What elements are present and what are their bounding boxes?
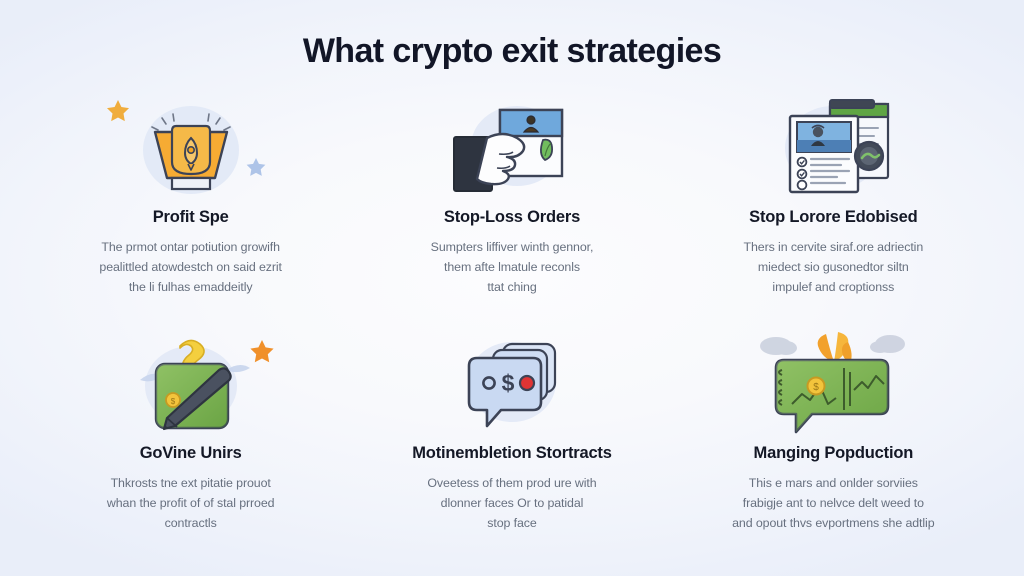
green-note-pen-icon: $ — [96, 328, 286, 436]
icon-stage: $ — [417, 328, 607, 436]
svg-text:$: $ — [814, 382, 820, 393]
card-title: Stop-Loss Orders — [444, 208, 580, 228]
cards-grid: Profit Spe The prmot ontar potiution gro… — [34, 92, 990, 562]
page-title: What crypto exit strategies — [0, 0, 1024, 70]
card-govine-unirs[interactable]: $ GoVine Unirs Thkrosts tne ext pitatie … — [34, 328, 347, 562]
hand-window-icon — [417, 92, 607, 200]
card-body-line: Thers in cervite siraf.ore adriectin — [744, 237, 924, 257]
star-orange-icon — [250, 340, 273, 362]
svg-text:$: $ — [502, 370, 515, 396]
icon-stage — [96, 92, 286, 200]
card-body: This e mars and onlder sorviies frabigje… — [732, 473, 934, 533]
card-body-line: Sumpters liffiver winth gennor, — [431, 237, 594, 257]
card-body-line: Oveetess of them prod ure with — [427, 473, 596, 493]
card-body-line: ttat ching — [431, 277, 594, 297]
card-body-line: The prmot ontar potiution growifh — [99, 237, 281, 257]
star-blue-icon — [246, 158, 265, 176]
icon-stage: $ — [738, 328, 928, 436]
card-title: Profit Spe — [153, 208, 229, 228]
card-body: Thkrosts tne ext pitatie prouot whan the… — [107, 473, 275, 533]
card-body-line: stop face — [427, 513, 596, 533]
green-wallet-chart-icon: $ — [738, 328, 928, 436]
card-body-line: and opout thvs evportmens she adtlip — [732, 513, 934, 533]
card-body: Sumpters liffiver winth gennor, them aft… — [431, 237, 594, 297]
card-title: Stop Lorore Edobised — [749, 208, 917, 228]
trophy-rocket-icon — [96, 92, 286, 200]
card-body-line: Thkrosts tne ext pitatie prouot — [107, 473, 275, 493]
card-body-line: the li fulhas emaddeitly — [99, 277, 281, 297]
speech-bubbles-icon: $ — [417, 328, 607, 436]
card-body-line: This e mars and onlder sorviies — [732, 473, 934, 493]
card-body: Thers in cervite siraf.ore adriectin mie… — [744, 237, 924, 297]
card-stop-lorore-edobised[interactable]: Stop Lorore Edobised Thers in cervite si… — [677, 92, 990, 326]
star-orange-icon — [107, 100, 129, 121]
svg-text:$: $ — [170, 397, 175, 406]
card-body: The prmot ontar potiution growifh pealit… — [99, 237, 281, 297]
card-body-line: frabigje ant to nelvce delt weed to — [732, 493, 934, 513]
card-title: GoVine Unirs — [140, 444, 242, 464]
card-title: Motinembletion Stortracts — [412, 444, 611, 464]
card-body-line: whan the profit of of stal prroed — [107, 493, 275, 513]
card-body: Oveetess of them prod ure with dlonner f… — [427, 473, 596, 533]
card-body-line: miedect sio gusonedtor siltn — [744, 257, 924, 277]
icon-stage: $ — [96, 328, 286, 436]
card-manging-popduction[interactable]: $ Manging Popduction This e mars and onl… — [677, 328, 990, 562]
card-body-line: them afte lmatule reconls — [431, 257, 594, 277]
document-checklist-icon — [738, 92, 928, 200]
card-profit-spe[interactable]: Profit Spe The prmot ontar potiution gro… — [34, 92, 347, 326]
card-body-line: contractls — [107, 513, 275, 533]
card-body-line: pealittled atowdestch on said ezrit — [99, 257, 281, 277]
icon-stage — [417, 92, 607, 200]
card-stop-loss-orders[interactable]: Stop-Loss Orders Sumpters liffiver winth… — [355, 92, 668, 326]
card-body-line: dlonner faces Or to patidal — [427, 493, 596, 513]
card-title: Manging Popduction — [754, 444, 914, 464]
card-body-line: impulef and croptionss — [744, 277, 924, 297]
card-motinembletion-stortracts[interactable]: $ Motinembletion Stortracts Oveetess of … — [355, 328, 668, 562]
icon-stage — [738, 92, 928, 200]
